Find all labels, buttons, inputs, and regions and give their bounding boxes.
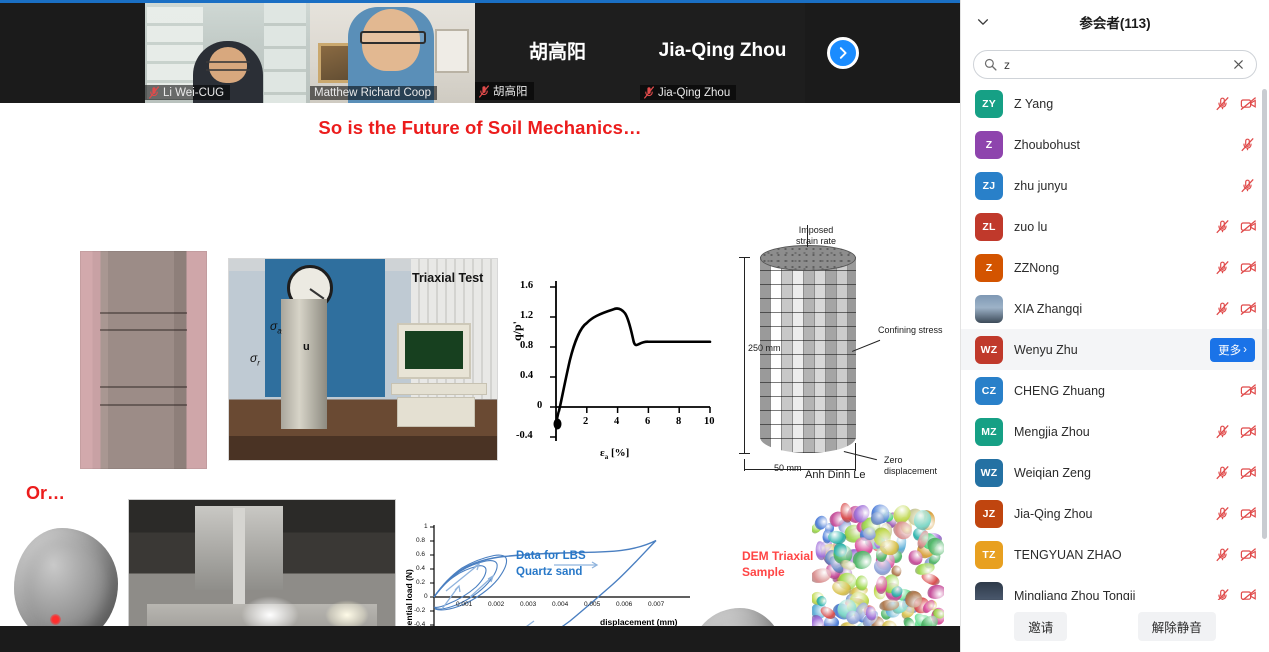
- x-tick-label: 0.001: [456, 601, 472, 608]
- dem-triaxial-sample-label: DEM TriaxialSample: [742, 549, 813, 580]
- triaxial-apparatus-photo: [228, 258, 498, 461]
- x-tick-label: 8: [676, 416, 681, 427]
- participants-panel-header: 参会者(113): [961, 0, 1269, 44]
- participants-scrollbar[interactable]: [1262, 89, 1267, 539]
- slide-title: So is the Future of Soil Mechanics…: [0, 117, 960, 139]
- filmstrip-left-padding: [0, 3, 145, 103]
- video-tile-name: Matthew Richard Coop: [314, 87, 431, 99]
- more-actions-button[interactable]: 更多›: [1210, 338, 1255, 362]
- participant-row[interactable]: CZCHENG Zhuang: [961, 370, 1269, 411]
- camera-off-icon[interactable]: [1240, 588, 1255, 600]
- video-tile-hu-gaoyang[interactable]: 胡高阳 胡高阳: [475, 3, 640, 103]
- camera-off-icon[interactable]: [1240, 219, 1255, 234]
- zero-displacement-label: Zerodisplacement: [884, 455, 937, 477]
- participant-status-icons: [1215, 588, 1255, 600]
- close-icon[interactable]: [1232, 58, 1246, 72]
- camera-off-icon[interactable]: [1240, 547, 1255, 562]
- participant-search-field[interactable]: z: [973, 50, 1257, 79]
- video-tile-display-name: Jia-Qing Zhou: [640, 40, 805, 62]
- participant-avatar: WZ: [975, 459, 1003, 487]
- participant-row[interactable]: ZZhoubohust: [961, 124, 1269, 165]
- participant-name: Mengjia Zhou: [1014, 425, 1204, 439]
- video-tile-name: 胡高阳: [493, 83, 528, 99]
- search-icon: [984, 58, 997, 71]
- mic-muted-icon[interactable]: [1215, 547, 1230, 562]
- participant-status-icons: [1215, 96, 1255, 111]
- participant-avatar: ZL: [975, 213, 1003, 241]
- x-tick-label: 0.004: [552, 601, 568, 608]
- camera-off-icon[interactable]: [1240, 96, 1255, 111]
- participant-status-icons: [1215, 260, 1255, 275]
- or-label: Or…: [26, 483, 65, 504]
- participant-name: Mingliang Zhou Tongji: [1014, 589, 1204, 600]
- triaxial-test-label: Triaxial Test: [412, 271, 483, 285]
- camera-off-icon[interactable]: [1240, 383, 1255, 398]
- crt-monitor: [397, 323, 471, 379]
- chevron-right-icon: ›: [1243, 344, 1247, 356]
- participant-status-icons: [1215, 424, 1255, 439]
- stress-ratio-chart-svg: [512, 271, 717, 466]
- imposed-strain-rate-label: Imposedstrain rate: [786, 225, 846, 247]
- x-tick-label: 0.002: [488, 601, 504, 608]
- y-tick-label: 0.8: [520, 340, 533, 351]
- participant-name: Wenyu Zhu: [1014, 343, 1199, 357]
- soil-core-specimen-photo: [80, 251, 207, 469]
- y-tick-label: 0.8: [416, 537, 425, 544]
- y-tick-label: 1.6: [520, 280, 533, 291]
- chevron-down-icon[interactable]: [973, 12, 993, 32]
- video-tile-matthew-richard-coop[interactable]: Matthew Richard Coop: [310, 3, 475, 103]
- y-tick-label: -0.4: [516, 430, 533, 441]
- video-tile-name: Li Wei-CUG: [163, 87, 224, 99]
- participant-name: CHENG Zhuang: [1014, 384, 1229, 398]
- participant-avatar: Z: [975, 254, 1003, 282]
- participants-panel-footer: 邀请 解除静音: [961, 600, 1269, 652]
- participant-status-icons: [1215, 219, 1255, 234]
- participant-status-icons: [1215, 506, 1255, 521]
- video-tile-jia-qing-zhou[interactable]: Jia-Qing Zhou Jia-Qing Zhou: [640, 3, 805, 103]
- participant-name: Z Yang: [1014, 97, 1204, 111]
- desktop-computer-case: [397, 397, 475, 427]
- diagram-credit: Anh Dinh Le: [805, 469, 866, 481]
- participants-list[interactable]: ZYZ Yang ZZhoubohust ZJzhu junyu ZLzuo l…: [961, 83, 1269, 600]
- cylinder-height-label: 250 mm: [748, 343, 781, 354]
- video-tile-nameplate: Li Wei-CUG: [145, 85, 230, 100]
- participant-avatar: TZ: [975, 541, 1003, 569]
- diameter-dimension-tick: [744, 459, 745, 471]
- participant-row[interactable]: ZJzhu junyu: [961, 165, 1269, 206]
- mic-muted-icon: [644, 86, 654, 99]
- video-tile-li-wei-cug[interactable]: Li Wei-CUG: [145, 3, 310, 103]
- video-tile-nameplate: 胡高阳: [475, 82, 534, 100]
- cylinder-diameter-label: 50 mm: [774, 463, 802, 474]
- participant-status-icons: 更多›: [1210, 338, 1255, 362]
- keyboard: [391, 383, 487, 395]
- sigma-axial-label: σa: [270, 319, 282, 335]
- camera-off-icon[interactable]: [1240, 465, 1255, 480]
- x-tick-label: 2: [583, 416, 588, 427]
- participant-row[interactable]: ZZZNong: [961, 247, 1269, 288]
- participants-panel-title: 参会者(113): [961, 12, 1269, 32]
- y-tick-label: -0.2: [414, 607, 425, 614]
- camera-off-icon[interactable]: [1240, 506, 1255, 521]
- mic-muted-icon[interactable]: [1215, 424, 1230, 439]
- stress-ratio-chart: q/p' εa [%] 1.6 1.2 0.8 0.4 0 -0.4 2 4 6…: [512, 271, 717, 466]
- participant-status-icons: [1240, 178, 1255, 193]
- contact-point-marker: [50, 614, 61, 625]
- video-tile-name: Jia-Qing Zhou: [658, 87, 730, 99]
- y-tick-label: 0: [537, 400, 542, 411]
- meeting-bottom-bar: [0, 626, 960, 652]
- participant-avatar: CZ: [975, 377, 1003, 405]
- x-tick-label: 0.003: [520, 601, 536, 608]
- zoom-meeting-window: Li Wei-CUG Matthew Richard Coop 胡高阳: [0, 0, 1269, 652]
- cylinder-top-particles: [760, 245, 856, 271]
- mic-muted-icon[interactable]: [1215, 465, 1230, 480]
- x-tick-label: 6: [645, 416, 650, 427]
- invite-button[interactable]: 邀请: [1014, 612, 1067, 641]
- camera-off-icon[interactable]: [1240, 424, 1255, 439]
- participant-row[interactable]: WZWeiqian Zeng: [961, 452, 1269, 493]
- y-tick-label: 1: [424, 523, 428, 530]
- participant-avatar: ZY: [975, 90, 1003, 118]
- participant-avatar: JZ: [975, 500, 1003, 528]
- participant-status-icons: [1240, 383, 1255, 398]
- participant-status-icons: [1215, 547, 1255, 562]
- y-tick-label: 0.4: [520, 370, 533, 381]
- pore-pressure-label: u: [303, 341, 310, 353]
- camera-off-icon[interactable]: [1240, 301, 1255, 316]
- filmstrip-next-area: [805, 3, 960, 103]
- mic-muted-icon[interactable]: [1215, 260, 1230, 275]
- participant-name: ZZNong: [1014, 261, 1204, 275]
- participant-avatar: MZ: [975, 418, 1003, 446]
- x-tick-label: 0.005: [584, 601, 600, 608]
- participant-avatar: WZ: [975, 336, 1003, 364]
- x-tick-label: 0.007: [648, 601, 664, 608]
- mic-muted-icon: [149, 86, 159, 99]
- y-tick-label: 0.6: [416, 551, 425, 558]
- participant-row[interactable]: XIA Zhangqi: [961, 288, 1269, 329]
- dem-cylinder-diagram: [748, 243, 868, 465]
- participant-name: Weiqian Zeng: [1014, 466, 1204, 480]
- video-tile-nameplate: Matthew Richard Coop: [310, 86, 437, 100]
- y-tick-label: 0.4: [416, 565, 425, 572]
- y-tick-label: 0: [424, 593, 428, 600]
- confining-stress-label: Confining stress: [878, 325, 943, 336]
- participant-row[interactable]: MZMengjia Zhou: [961, 411, 1269, 452]
- height-dimension-line: [744, 257, 745, 453]
- mic-muted-icon[interactable]: [1215, 506, 1230, 521]
- participant-row[interactable]: ZYZ Yang: [961, 83, 1269, 124]
- shared-screen-slide: So is the Future of Soil Mechanics… Tria…: [0, 103, 960, 626]
- sigma-radial-label: σr: [250, 351, 260, 367]
- participant-name: Zhoubohust: [1014, 138, 1229, 152]
- leader-line-confining: [852, 340, 880, 352]
- chart-x-axis-label: εa [%]: [600, 447, 629, 461]
- video-tile-display-name: 胡高阳: [475, 37, 640, 64]
- video-filmstrip: Li Wei-CUG Matthew Richard Coop 胡高阳: [0, 3, 960, 103]
- x-tick-label: 0.006: [616, 601, 632, 608]
- cylinder-mesh-body: [760, 257, 856, 453]
- more-actions-label: 更多: [1218, 342, 1241, 358]
- x-tick-label: 4: [614, 416, 619, 427]
- mic-muted-icon: [479, 85, 489, 98]
- participant-row[interactable]: Mingliang Zhou Tongji: [961, 575, 1269, 600]
- participant-avatar: [975, 295, 1003, 323]
- participant-row[interactable]: TZTENGYUAN ZHAO: [961, 534, 1269, 575]
- participant-status-icons: [1215, 465, 1255, 480]
- mic-muted-icon[interactable]: [1215, 219, 1230, 234]
- participant-name: XIA Zhangqi: [1014, 302, 1204, 316]
- chart-annotation: Data for LBSQuartz sand: [516, 549, 586, 580]
- participant-name: zuo lu: [1014, 220, 1204, 234]
- participant-row[interactable]: JZJia-Qing Zhou: [961, 493, 1269, 534]
- participants-panel: 参会者(113) z ZYZ Yang ZZhoubohust ZJzhu ju…: [960, 0, 1269, 652]
- leader-line-zero-disp: [844, 451, 877, 460]
- chevron-right-icon[interactable]: [827, 37, 859, 69]
- mic-muted-icon[interactable]: [1240, 178, 1255, 193]
- y-tick-label: 0.2: [416, 579, 425, 586]
- video-tile-nameplate: Jia-Qing Zhou: [640, 85, 736, 100]
- mic-muted-icon[interactable]: [1215, 588, 1230, 600]
- participant-row[interactable]: WZWenyu Zhu更多›: [961, 329, 1269, 370]
- triaxial-cell-column: [281, 299, 327, 429]
- unmute-button[interactable]: 解除静音: [1138, 612, 1216, 641]
- height-dimension-tick: [739, 257, 750, 258]
- participant-name: TENGYUAN ZHAO: [1014, 548, 1204, 562]
- chart-y-axis-label: q/p': [510, 321, 525, 341]
- y-tick-label: 1.2: [520, 310, 533, 321]
- mic-muted-icon[interactable]: [1240, 137, 1255, 152]
- participant-status-icons: [1215, 301, 1255, 316]
- mic-muted-icon[interactable]: [1215, 96, 1230, 111]
- mic-muted-icon[interactable]: [1215, 301, 1230, 316]
- participant-name: Jia-Qing Zhou: [1014, 507, 1204, 521]
- participant-avatar: [975, 582, 1003, 600]
- diameter-dimension-tick: [855, 443, 856, 471]
- x-tick-label: 10: [704, 416, 715, 427]
- participant-status-icons: [1240, 137, 1255, 152]
- participant-name: zhu junyu: [1014, 179, 1229, 193]
- participant-row[interactable]: ZLzuo lu: [961, 206, 1269, 247]
- participant-avatar: ZJ: [975, 172, 1003, 200]
- camera-off-icon[interactable]: [1240, 260, 1255, 275]
- height-dimension-tick: [739, 453, 750, 454]
- participant-avatar: Z: [975, 131, 1003, 159]
- search-input-value[interactable]: z: [1004, 58, 1225, 72]
- dem-particle: [926, 584, 944, 601]
